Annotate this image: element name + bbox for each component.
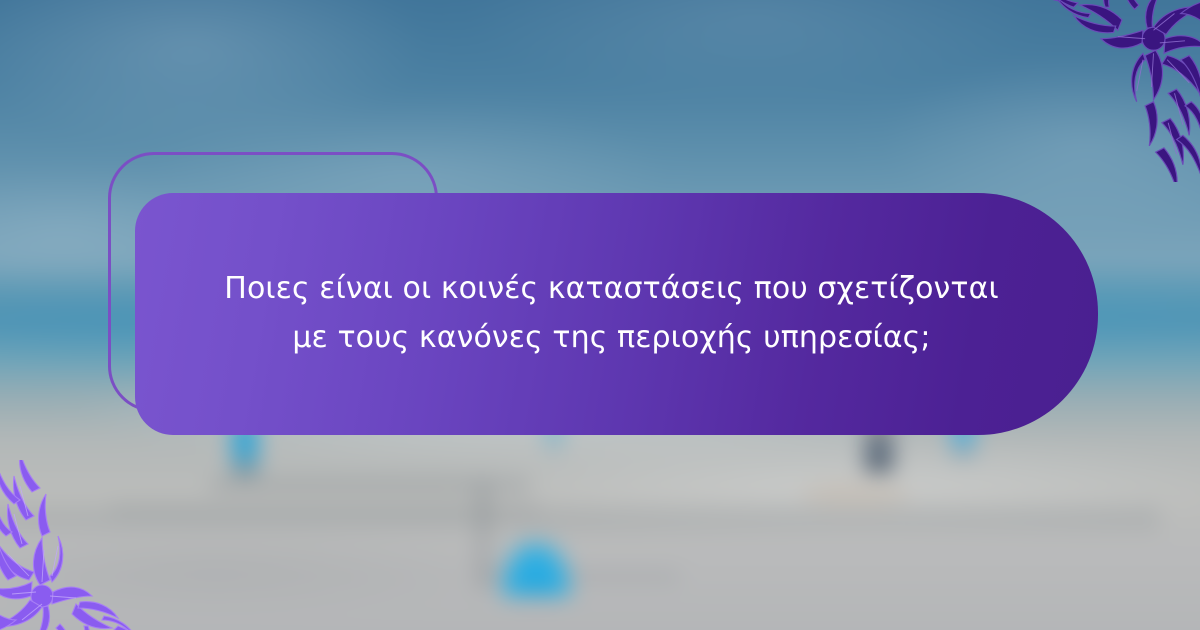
beach-umbrella xyxy=(500,540,572,596)
beach-railing-horizontal xyxy=(110,505,540,513)
question-text: Ποιες είναι οι κοινές καταστάσεις που σχ… xyxy=(224,265,998,362)
beach-sand-patch xyxy=(800,480,910,508)
social-card-canvas: Ποιες είναι οι κοινές καταστάσεις που σχ… xyxy=(0,0,1200,630)
question-card: Ποιες είναι οι κοινές καταστάσεις που σχ… xyxy=(135,193,1098,435)
